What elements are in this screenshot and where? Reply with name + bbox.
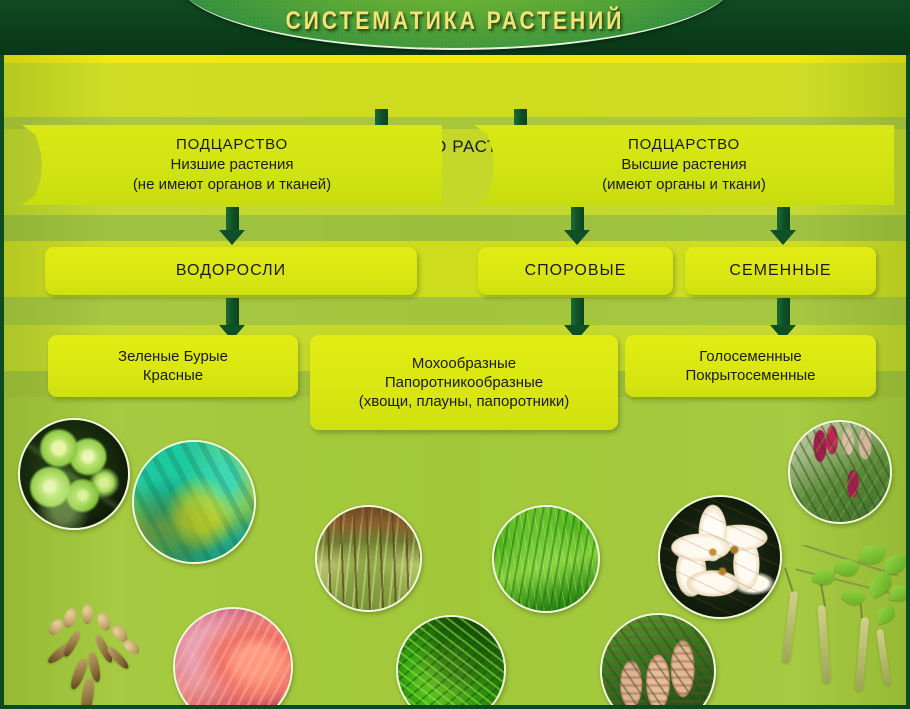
division-line: Красные xyxy=(118,366,228,385)
arrow-down-icon xyxy=(219,207,245,245)
photo-brown-kelp xyxy=(132,440,256,564)
photo-brown-alga-fucus xyxy=(38,600,148,705)
arrow-down-icon xyxy=(564,207,590,245)
plant-systematics-poster: СИСТЕМАТИКА РАСТЕНИЙ ЦАРСТВО РАСТЕНИЯ ПО… xyxy=(0,0,910,709)
division-box-seed[interactable]: Голосеменные Покрытосеменные xyxy=(625,335,876,397)
subkingdom-rank: ПОДЦАРСТВО xyxy=(133,135,331,155)
group-label: ВОДОРОСЛИ xyxy=(176,261,286,281)
group-label: СПОРОВЫЕ xyxy=(525,261,627,281)
division-line: Покрытосеменные xyxy=(685,366,815,385)
subkingdom-note: (не имеют органов и тканей) xyxy=(133,175,331,195)
group-box-spore[interactable]: СПОРОВЫЕ xyxy=(478,247,673,295)
photo-fern xyxy=(396,615,506,705)
group-box-algae[interactable]: ВОДОРОСЛИ xyxy=(45,247,417,295)
group-label: СЕМЕННЫЕ xyxy=(729,261,831,281)
division-line: Мохообразные xyxy=(359,354,569,373)
photo-pine-cones xyxy=(600,613,716,705)
arrow-down-icon xyxy=(219,298,245,340)
subkingdom-name: Высшие растения xyxy=(602,155,766,175)
bg-band xyxy=(4,55,906,63)
arrow-down-icon xyxy=(770,298,796,340)
division-box-spore[interactable]: Мохообразные Папоротникообразные (хвощи,… xyxy=(310,335,618,430)
photo-birch-catkins xyxy=(764,545,906,705)
division-line: (хвощи, плауны, папоротники) xyxy=(359,392,569,411)
division-box-algae[interactable]: Зеленые Бурые Красные xyxy=(48,335,298,397)
subkingdom-higher-plants[interactable]: ПОДЦАРСТВО Высшие растения (имеют органы… xyxy=(474,125,894,205)
photo-horsetail xyxy=(492,505,600,613)
subkingdom-lower-plants[interactable]: ПОДЦАРСТВО Низшие растения (не имеют орг… xyxy=(22,125,442,205)
poster-title: СИСТЕМАТИКА РАСТЕНИЙ xyxy=(0,8,910,36)
photo-red-algae xyxy=(173,607,293,705)
arrow-down-icon xyxy=(564,298,590,340)
photo-green-algae xyxy=(18,418,130,530)
division-line: Папоротникообразные xyxy=(359,373,569,392)
division-line: Зеленые Бурые xyxy=(118,347,228,366)
division-line: Голосеменные xyxy=(685,347,815,366)
subkingdom-note: (имеют органы и ткани) xyxy=(602,175,766,195)
photo-young-spruce-cones xyxy=(788,420,892,524)
subkingdom-rank: ПОДЦАРСТВО xyxy=(602,135,766,155)
bg-band xyxy=(4,63,906,117)
subkingdom-name: Низшие растения xyxy=(133,155,331,175)
poster-body: ЦАРСТВО РАСТЕНИЯ ПОДЦАРСТВО Низшие расте… xyxy=(4,55,906,705)
group-box-seed[interactable]: СЕМЕННЫЕ xyxy=(685,247,876,295)
photo-moss xyxy=(315,505,422,612)
arrow-down-icon xyxy=(770,207,796,245)
